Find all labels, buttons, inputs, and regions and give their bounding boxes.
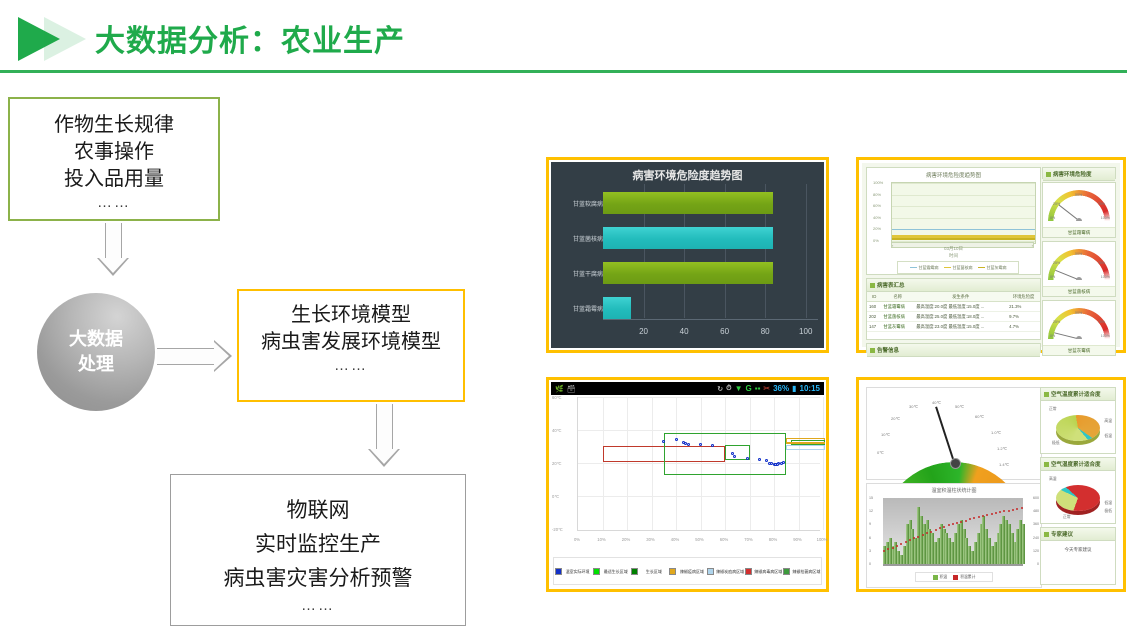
trend-chart-legend: 甘蓝霜霉病 甘蓝菌核病 甘蓝灰霉病 <box>897 261 1019 274</box>
table-row[interactable]: 147 甘蓝灰霉病 最高温度:23.0度 最低温度:15.0度 ... 4.7% <box>867 322 1040 332</box>
bar <box>603 227 773 249</box>
data-point <box>776 463 779 466</box>
y-tick-label: 12 <box>869 509 873 513</box>
x-tick-label: 40 <box>680 327 689 336</box>
arrow-right-icon <box>157 340 231 373</box>
play-triangle-outline-icon <box>44 17 86 61</box>
y-tick-label: 0℃ <box>552 494 559 499</box>
gauge-card: 0% 25% 50% 75% 100% 甘蓝灰霉病 <box>1042 300 1116 356</box>
grid-line <box>892 206 1035 207</box>
y-tick-label: 3 <box>869 549 871 553</box>
pie-temp-card: 空气温度累计适合度 正常 高温 低温 极低 <box>1040 387 1116 454</box>
bar-chart-title: 病害环境危险度趋势图 <box>551 167 824 183</box>
trend-point <box>909 539 911 541</box>
chart-icon <box>1044 532 1049 537</box>
cell-name[interactable]: 甘蓝霜霉病 <box>881 302 914 312</box>
page-header: 大数据分析：农业生产 <box>0 0 1127 78</box>
chart-icon <box>1044 392 1049 397</box>
legend-item[interactable]: 辣椒枯萎病区域 <box>783 568 820 575</box>
gauge-tick: 30℃ <box>909 404 918 409</box>
gauge-tick: 1.4℃ <box>999 462 1009 467</box>
legend-label: 甘蓝灰霉病 <box>987 265 1007 271</box>
y-tick-label-right: 0 <box>1037 562 1039 566</box>
trend-point <box>960 521 962 523</box>
cell-risk: 4.7% <box>1007 322 1040 332</box>
flow-line: 病虫害发展环境模型 <box>239 329 463 356</box>
pie-label: 极低 <box>1104 509 1112 514</box>
y-tick-label: 100% <box>873 180 883 185</box>
pie-label: 极低 <box>1052 441 1060 446</box>
bar-chart-axis <box>603 319 818 320</box>
gauge-tick: 25% <box>1053 202 1060 206</box>
x-tick-label: 20 <box>639 327 648 336</box>
advice-card: 专家建议 今天专家建议 <box>1040 527 1116 585</box>
trend-point <box>995 512 997 514</box>
legend-item[interactable]: 生长区域 <box>631 568 668 575</box>
cell-risk: 9.7% <box>1007 312 1040 322</box>
trend-point <box>1003 510 1005 512</box>
line-series <box>892 229 1035 231</box>
trend-point <box>930 531 932 533</box>
pie-humidity-card: 空气湿度累计适合度 高湿 低湿 极低 正常 <box>1040 457 1116 524</box>
gauge-tick: 20℃ <box>891 416 900 421</box>
flow-line: 投入品用量 <box>10 166 218 193</box>
legend-label: 甘蓝霜霉病 <box>919 265 939 271</box>
x-tick-label: 20% <box>622 537 630 542</box>
cell-id: 147 <box>867 322 881 332</box>
gauge-card-header: 病害环境危险度 <box>1043 168 1115 181</box>
trend-point <box>969 518 971 520</box>
x-tick-label: 30% <box>646 537 654 542</box>
x-tick-label: 60% <box>720 537 728 542</box>
bar-category-label: 甘蓝干腐病 <box>555 269 603 278</box>
screenshot-panel-dashboard-bottom: 0℃ 10℃ 20℃ 30℃ 40℃ 50℃ 60℃ 1.0℃ 1.2℃ 1.4… <box>856 377 1126 592</box>
grid-line <box>892 218 1035 219</box>
dashboard-bottom-body: 0℃ 10℃ 20℃ 30℃ 40℃ 50℃ 60℃ 1.0℃ 1.2℃ 1.4… <box>862 383 1120 586</box>
y-tick-label: 0% <box>873 238 879 243</box>
gauge-tick: 0% <box>1050 216 1055 220</box>
gauge-label: 甘蓝霜霉病 <box>1043 227 1115 237</box>
trend-point <box>917 536 919 538</box>
trend-point <box>991 513 993 515</box>
advice-header: 专家建议 <box>1041 528 1115 541</box>
trend-point <box>948 524 950 526</box>
battery-percent: 36% <box>773 384 789 393</box>
pie-label: 高湿 <box>1049 477 1057 482</box>
pie-temp-chart: 正常 高温 低温 极低 <box>1041 401 1115 453</box>
arrow-down-icon <box>97 223 130 275</box>
x-tick-label: 80% <box>769 537 777 542</box>
flow-ellipsis: …… <box>239 356 463 376</box>
trend-point <box>986 514 988 516</box>
y-tick-label: 15 <box>869 496 873 500</box>
bar <box>603 192 773 214</box>
table-row[interactable]: 202 甘蓝菌核病 最高温度:25.0度 最低温度:18.0度 ... 9.7% <box>867 312 1040 322</box>
grid-line <box>892 195 1035 196</box>
trend-point <box>926 532 928 534</box>
chart-icon <box>870 283 875 288</box>
y-tick-label: 20% <box>873 226 881 231</box>
x-tick-label: 70% <box>744 537 752 542</box>
pie-humidity-chart: 高湿 低湿 极低 正常 <box>1041 471 1115 523</box>
cumulative-trend-line <box>883 498 1023 564</box>
gauge-dial: 0% 25% 50% 75% 100% <box>1048 190 1110 221</box>
y-tick-label: 40% <box>873 215 881 220</box>
arrow-down-icon <box>368 404 401 466</box>
cell-name[interactable]: 甘蓝菌核病 <box>881 312 914 322</box>
gauge-dial: 0% 25% 50% 75% 100% <box>1048 249 1110 280</box>
trend-chart-title: 病害环境危险度趋势图 <box>867 168 1040 179</box>
y-tick-label: 20℃ <box>552 461 561 466</box>
gauge-tick: 10℃ <box>881 432 890 437</box>
trend-point <box>952 523 954 525</box>
flow-line: 物联网 <box>171 494 465 528</box>
pie-slice-group <box>1056 485 1100 511</box>
bar-row <box>603 297 826 319</box>
grid-line <box>578 430 820 431</box>
dashboard-top-body: 病害环境危险度趋势图 ‹› 03月10日 时间 甘蓝霜霉病 甘蓝菌核病 甘蓝灰霉… <box>862 163 1120 347</box>
bar-category-label: 甘蓝菌核病 <box>555 234 603 243</box>
trend-point <box>935 529 937 531</box>
legend-item[interactable]: 辣椒疫病区域 <box>669 568 706 575</box>
trend-point <box>999 511 1001 513</box>
cell-condition: 最高温度:23.0度 最低温度:15.0度 ... <box>914 322 1007 332</box>
trend-point <box>883 550 885 552</box>
trend-chart-xtick: 03月10日 <box>867 246 1040 252</box>
flow-line: 生长环境模型 <box>239 302 463 329</box>
y-tick-label: 0 <box>869 562 871 566</box>
cell-condition: 最高温度:20.0度 最低温度:15.0度 ... <box>914 302 1007 312</box>
usb-icon: ✂ <box>763 384 770 393</box>
pie-label: 高温 <box>1104 419 1112 424</box>
pie-label: 正常 <box>1049 407 1057 412</box>
bigdata-process-circle: 大数据 处理 <box>37 293 155 411</box>
trend-point <box>922 534 924 536</box>
trend-point <box>939 527 941 529</box>
cell-condition: 最高温度:25.0度 最低温度:18.0度 ... <box>914 312 1007 322</box>
flow-line: 病虫害灾害分析预警 <box>171 562 465 596</box>
disease-table-card: 病害表汇总 ID 名称 发生条件 环境危险度 160 甘蓝霜霉病 最高温度:20… <box>866 278 1041 340</box>
trend-point <box>956 522 958 524</box>
pie-label: 低温 <box>1104 434 1112 439</box>
gauge-tick: 100% <box>1101 334 1110 338</box>
gauge-2: 0% 25% 50% 75% 100% <box>1043 242 1115 286</box>
zone-rect <box>786 442 825 444</box>
legend-label: 甘蓝菌核病 <box>953 265 973 271</box>
grid-line <box>578 496 820 497</box>
trend-point <box>973 517 975 519</box>
flow-line: 作物生长规律 <box>10 112 218 139</box>
bar <box>603 262 773 284</box>
x-tick-label: 100% <box>817 537 828 542</box>
pie-humidity-header: 空气湿度累计适合度 <box>1041 458 1115 471</box>
legend-label: 积温累计 <box>960 575 975 580</box>
accumulated-temp-card: 温室积温柱状统计图 积温 积温累计 0369121501202403604806… <box>866 483 1042 588</box>
sdcard-icon: 🗃 <box>567 385 576 393</box>
temperature-gauge-card: 0℃ 10℃ 20℃ 30℃ 40℃ 50℃ 60℃ 1.0℃ 1.2℃ 1.4… <box>866 387 1042 480</box>
table-col: 名称 <box>881 292 914 302</box>
advice-title: 专家建议 <box>1051 530 1073 538</box>
gauge-tick: 75% <box>1098 202 1105 206</box>
bar-category-label: 甘蓝软腐病 <box>555 199 603 208</box>
android-status-bar: 🌿 🗃 ↻ ⏱ ▼ G ▪▪ ✂ 36% ▮ 10:15 <box>551 382 824 395</box>
legend-label: 辣椒疫病区域 <box>678 569 706 574</box>
table-card-title: 病害表汇总 <box>877 281 905 289</box>
legend-label: 辣椒病毒病区域 <box>754 569 782 574</box>
gauge-tick: 1.0℃ <box>991 430 1001 435</box>
data-point <box>687 443 690 446</box>
bar <box>603 297 631 319</box>
wifi-icon: ▼ <box>735 384 743 393</box>
legend-label: 最适生长区域 <box>602 569 630 574</box>
temperature-gauge: 0℃ 10℃ 20℃ 30℃ 40℃ 50℃ 60℃ 1.0℃ 1.2℃ 1.4… <box>867 388 1041 479</box>
trend-point <box>887 548 889 550</box>
bar-chart-plot <box>603 184 818 318</box>
gauge-tick: 0℃ <box>877 450 884 455</box>
leaf-icon: 🌿 <box>555 385 564 393</box>
y-tick-label: 40℃ <box>552 428 561 433</box>
bar-row <box>603 262 826 284</box>
signal-bars-icon: ▪▪ <box>755 384 761 393</box>
trend-point <box>1008 510 1010 512</box>
legend-label: 辣椒枯萎病区域 <box>792 569 820 574</box>
legend-label: 辣椒炭疽病区域 <box>716 569 744 574</box>
cell-id: 202 <box>867 312 881 322</box>
trend-point <box>1016 508 1018 510</box>
flow-box-inputs: 作物生长规律 农事操作 投入品用量 …… <box>8 97 220 221</box>
trend-point <box>1012 509 1014 511</box>
zone-rect <box>786 445 825 450</box>
cell-risk: 21.3% <box>1007 302 1040 312</box>
x-tick-label: 90% <box>793 537 801 542</box>
pie-temp-header: 空气温度累计适合度 <box>1041 388 1115 401</box>
bar-category-label: 甘蓝霜霉病 <box>555 304 603 313</box>
bar-row <box>603 227 826 249</box>
gauge-tick: 50% <box>1075 252 1082 256</box>
legend-label: 积温 <box>940 575 948 580</box>
flow-ellipsis: …… <box>171 596 465 616</box>
screenshot-panel-android: 🌿 🗃 ↻ ⏱ ▼ G ▪▪ ✂ 36% ▮ 10:15 0%10%20%30%… <box>546 377 829 592</box>
flow-ellipsis: …… <box>10 193 218 213</box>
legend-item[interactable]: 辣椒病毒病区域 <box>745 568 782 575</box>
gauge-tick: 100% <box>1101 216 1110 220</box>
trend-point <box>965 520 967 522</box>
header-divider <box>0 70 1127 73</box>
grid-line <box>823 397 824 530</box>
bar-chart-canvas: 病害环境危险度趋势图 20406080100甘蓝软腐病甘蓝菌核病甘蓝干腐病甘蓝霜… <box>551 162 824 348</box>
signal-g-icon: G <box>746 384 752 393</box>
legend-item[interactable]: 温室实际环境 <box>555 568 592 575</box>
x-tick-label: 50% <box>695 537 703 542</box>
gauge-dial: 0% 25% 50% 75% 100% <box>1048 308 1110 339</box>
gauge-tick: 100% <box>1101 275 1110 279</box>
alert-card-header: 告警信息 <box>867 344 1040 357</box>
gauge-tick: 0% <box>1050 275 1055 279</box>
flow-box-iot: 物联网 实时监控生产 病虫害灾害分析预警 …… <box>170 474 466 626</box>
gauge-card-header-wrap: 病害环境危险度 <box>1042 167 1116 179</box>
scatter-legend: 温室实际环境 最适生长区域 生长区域 辣椒疫病区域 辣椒炭疽病区域 辣椒病毒病区… <box>553 557 822 585</box>
disease-table: ID 名称 发生条件 环境危险度 160 甘蓝霜霉病 最高温度:20.0度 最低… <box>867 292 1040 332</box>
cell-name[interactable]: 甘蓝灰霉病 <box>881 322 914 332</box>
y-tick-label: 60℃ <box>552 395 561 400</box>
battery-icon: ▮ <box>792 384 796 393</box>
table-col: 环境危险度 <box>1007 292 1040 302</box>
x-tick-label: 40% <box>671 537 679 542</box>
gauge-tick: 40℃ <box>932 400 941 405</box>
legend-item[interactable]: 最适生长区域 <box>593 568 630 575</box>
advice-body: 今天专家建议 <box>1041 541 1115 553</box>
table-col: 发生条件 <box>914 292 1007 302</box>
trend-chart-xlabel: 时间 <box>867 253 1040 259</box>
gauge-tick: 0% <box>1050 334 1055 338</box>
chart-icon <box>870 348 875 353</box>
alert-card-title: 告警信息 <box>877 346 899 354</box>
y-tick-label: -20℃ <box>552 527 563 532</box>
data-point <box>746 457 749 460</box>
y-tick-label: 6 <box>869 536 871 540</box>
chart-icon <box>1046 172 1051 177</box>
x-tick-label: 80 <box>761 327 770 336</box>
right-column: 空气温度累计适合度 正常 高温 低温 极低 空气湿度累计适合度 高湿 <box>1040 387 1116 582</box>
y-tick-label-right: 360 <box>1033 522 1039 526</box>
trend-point <box>892 547 894 549</box>
grid-line <box>578 397 820 398</box>
flow-line: 农事操作 <box>10 139 218 166</box>
trend-point <box>905 541 907 543</box>
scatter-grid <box>577 397 820 531</box>
sync-icon: ↻ <box>717 385 723 393</box>
y-tick-label-right: 480 <box>1033 509 1039 513</box>
y-tick-label: 9 <box>869 522 871 526</box>
circle-line-2: 处理 <box>78 352 114 377</box>
y-tick-label-right: 120 <box>1033 549 1039 553</box>
gauge-label: 甘蓝菌核病 <box>1043 286 1115 296</box>
x-tick-label: 0% <box>574 537 580 542</box>
legend-label: 生长区域 <box>640 569 668 574</box>
gauge-card-title: 病害环境危险度 <box>1053 170 1092 178</box>
table-card-header: 病害表汇总 <box>867 279 1040 292</box>
gauge-3: 0% 25% 50% 75% 100% <box>1043 301 1115 345</box>
gauge-1: 0% 25% 50% 75% 100% <box>1043 183 1115 227</box>
trend-point <box>1021 507 1023 509</box>
gauge-tick: 25% <box>1053 261 1060 265</box>
pie-temp-title: 空气温度累计适合度 <box>1051 390 1101 398</box>
gauge-tick: 50% <box>1075 311 1082 315</box>
screenshot-panel-dashboard-top: 病害环境危险度趋势图 ‹› 03月10日 时间 甘蓝霜霉病 甘蓝菌核病 甘蓝灰霉… <box>856 157 1126 353</box>
trend-point <box>896 545 898 547</box>
gauge-tick: 60℃ <box>975 414 984 419</box>
legend-item[interactable]: 辣椒炭疽病区域 <box>707 568 744 575</box>
trend-chart-card: 病害环境危险度趋势图 ‹› 03月10日 时间 甘蓝霜霉病 甘蓝菌核病 甘蓝灰霉… <box>866 167 1041 275</box>
clock-time: 10:15 <box>800 384 820 393</box>
trend-point <box>943 526 945 528</box>
gauge-column: 病害环境危险度 0% 25% 50% 75% 100% 甘蓝 <box>1042 167 1116 343</box>
trend-point <box>913 537 915 539</box>
bar-row <box>603 192 826 214</box>
flow-line: 实时监控生产 <box>171 528 465 562</box>
circle-line-1: 大数据 <box>69 327 123 352</box>
scatter-plot: 0%10%20%30%40%50%60%70%80%90%100%-20℃0℃2… <box>551 395 824 547</box>
x-tick-label: 60 <box>720 327 729 336</box>
gauge-tick: 1.2℃ <box>997 446 1007 451</box>
bar-chart-legend: 积温 积温累计 <box>915 572 993 582</box>
trend-point <box>900 543 902 545</box>
pie-label: 正常 <box>1063 515 1071 520</box>
gauge-tick: 25% <box>1053 320 1060 324</box>
grid-line <box>892 183 1035 184</box>
bar-chart-title: 温室积温柱状统计图 <box>867 484 1041 494</box>
alert-card: 告警信息 <box>866 343 1041 353</box>
y-tick-label-right: 240 <box>1033 536 1039 540</box>
y-tick-label: 80% <box>873 192 881 197</box>
trend-chart-plot <box>891 182 1036 244</box>
x-tick-label: 100 <box>799 327 812 336</box>
gauge-tick: 75% <box>1098 320 1105 324</box>
pie-label: 低湿 <box>1104 501 1112 506</box>
gauge-card: 0% 25% 50% 75% 100% 甘蓝菌核病 <box>1042 241 1116 297</box>
screenshot-panel-bar-chart: 病害环境危险度趋势图 20406080100甘蓝软腐病甘蓝菌核病甘蓝干腐病甘蓝霜… <box>546 157 829 353</box>
gauge-tick: 75% <box>1098 261 1105 265</box>
legend-label: 温室实际环境 <box>564 569 592 574</box>
gauge-tick: 50% <box>1075 193 1082 197</box>
trend-point <box>982 515 984 517</box>
table-col: ID <box>867 292 881 302</box>
flow-box-models: 生长环境模型 病虫害发展环境模型 …… <box>237 289 465 402</box>
alarm-icon: ⏱ <box>726 385 731 393</box>
line-series <box>892 238 1035 240</box>
chart-icon <box>1044 462 1049 467</box>
gauge-tick: 50℃ <box>955 404 964 409</box>
android-screen: 🌿 🗃 ↻ ⏱ ▼ G ▪▪ ✂ 36% ▮ 10:15 0%10%20%30%… <box>551 382 824 587</box>
trend-point <box>978 516 980 518</box>
y-tick-label: 60% <box>873 203 881 208</box>
data-point <box>758 458 761 461</box>
cell-id: 160 <box>867 302 881 312</box>
gauge-card: 0% 25% 50% 75% 100% 甘蓝霜霉病 <box>1042 182 1116 238</box>
x-tick-label: 10% <box>597 537 605 542</box>
page-title: 大数据分析：农业生产 <box>95 16 405 60</box>
y-tick-label-right: 600 <box>1033 496 1039 500</box>
gauge-label: 甘蓝灰霉病 <box>1043 345 1115 355</box>
pie-humidity-title: 空气湿度累计适合度 <box>1051 460 1101 468</box>
table-row[interactable]: 160 甘蓝霜霉病 最高温度:20.0度 最低温度:15.0度 ... 21.3… <box>867 302 1040 312</box>
pie-slice-group <box>1056 415 1100 441</box>
